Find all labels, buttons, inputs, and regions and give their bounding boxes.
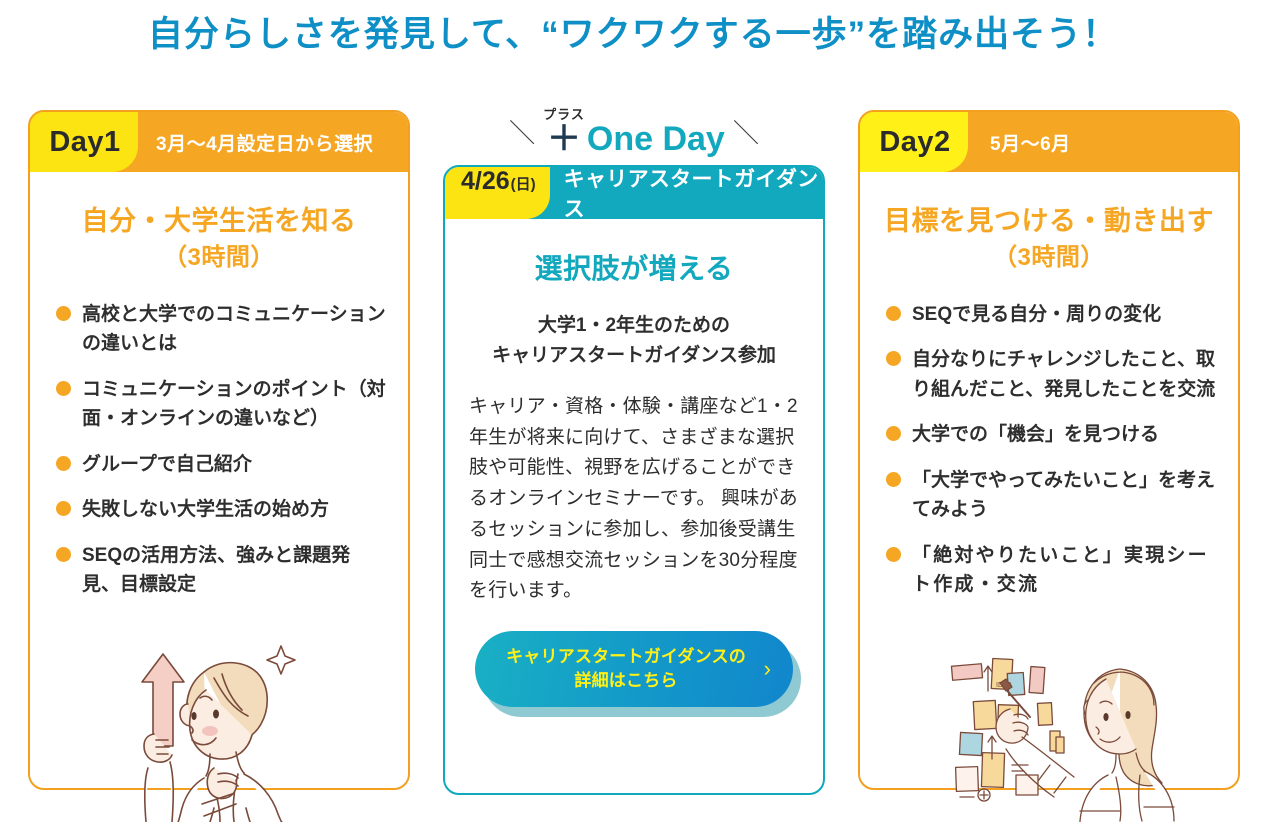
headline-part-2: して、 (436, 15, 541, 54)
bullet-dot-icon (56, 501, 71, 516)
plus-sign: ＋ (547, 122, 581, 156)
middle-card-header: 4/26(日) キャリアスタートガイダンス (445, 167, 823, 219)
list-item: 大学での「機会」を見つける (886, 420, 1218, 449)
list-item: グループで自己紹介 (56, 450, 388, 479)
lead-line-2: キャリアスタートガイダンス参加 (445, 341, 823, 371)
slash-right: ／ (733, 113, 759, 150)
day1-bullet-list: 高校と大学でのコミュニケーションの違いとは コミュニケーションのポイント（対面・… (56, 300, 388, 600)
day2-header: Day2 5月～6月 (860, 112, 1238, 172)
headline-part-3: “ワクワクする一歩” (541, 15, 866, 54)
program-schedule-page: 自分らしさを発見して、“ワクワクする一歩”を踏み出そう！ Day1 3月～4月設… (0, 0, 1266, 822)
middle-card-title: 選択肢が増える (445, 247, 823, 287)
list-item: 「絶対やりたいこと」実現シート作成・交流 (886, 541, 1218, 600)
day1-title: 自分・大学生活を知る （3時間） (30, 202, 408, 276)
day1-hours: （3時間） (30, 241, 408, 276)
cta-line-1: キャリアスタートガイダンスの (506, 647, 746, 666)
day1-header: Day1 3月～4月設定日から選択 (30, 112, 408, 172)
day1-period: 3月～4月設定日から選択 (156, 129, 373, 156)
bullet-dot-icon (56, 381, 71, 396)
middle-card-header-title: キャリアスタートガイダンス (564, 165, 823, 223)
one-day-label: One Day (587, 122, 725, 156)
list-item: 自分なりにチャレンジしたこと、取り組んだこと、発見したことを交流 (886, 345, 1218, 404)
list-item: 高校と大学でのコミュニケーションの違いとは (56, 300, 388, 359)
career-start-guidance-card: 4/26(日) キャリアスタートガイダンス 選択肢が増える 大学1・2年生のため… (443, 165, 825, 795)
bullet-dot-icon (56, 306, 71, 321)
day2-hours: （3時間） (860, 241, 1238, 276)
cta-line-2: 詳細はこちら (574, 671, 677, 690)
list-item: 「大学でやってみたいこと」を考えてみよう (886, 466, 1218, 525)
day1-badge: Day1 (30, 112, 138, 172)
headline-part-1: 自分らしさを発見 (148, 15, 436, 54)
event-date-badge: 4/26(日) (445, 167, 550, 219)
cta-container: キャリアスタートガイダンスの 詳細はこちら › (475, 631, 793, 713)
bullet-dot-icon (886, 472, 901, 487)
middle-card-body: キャリア・資格・体験・講座など1・2年生が将来に向けて、さまざまな選択肢や可能性… (469, 392, 801, 607)
lead-line-1: 大学1・2年生のための (445, 311, 823, 341)
list-item: SEQで見る自分・周りの変化 (886, 300, 1218, 329)
day2-period: 5月～6月 (990, 129, 1071, 156)
headline-part-4: を踏み出そう！ (866, 15, 1118, 54)
day2-badge: Day2 (860, 112, 968, 172)
list-item: コミュニケーションのポイント（対面・オンラインの違いなど） (56, 375, 388, 434)
middle-card-lead: 大学1・2年生のための キャリアスタートガイダンス参加 (445, 311, 823, 372)
bullet-dot-icon (886, 351, 901, 366)
event-day-of-week: (日) (511, 173, 536, 194)
bullet-dot-icon (886, 306, 901, 321)
slash-left: ＼ (509, 113, 535, 150)
day2-bullet-list: SEQで見る自分・周りの変化 自分なりにチャレンジしたこと、取り組んだこと、発見… (886, 300, 1218, 600)
bullet-dot-icon (56, 547, 71, 562)
day2-card: Day2 5月～6月 目標を見つける・動き出す （3時間） SEQで見る自分・周… (858, 110, 1240, 790)
plus-one-day-label: ＼ プラス ＋ One Day ／ (443, 108, 825, 156)
list-item: 失敗しない大学生活の始め方 (56, 495, 388, 524)
guidance-details-button[interactable]: キャリアスタートガイダンスの 詳細はこちら › (475, 631, 793, 707)
bullet-dot-icon (56, 456, 71, 471)
bullet-dot-icon (886, 547, 901, 562)
chevron-right-icon: › (764, 656, 771, 682)
page-headline: 自分らしさを発見して、“ワクワクする一歩”を踏み出そう！ (0, 6, 1266, 57)
bullet-dot-icon (886, 426, 901, 441)
day2-title: 目標を見つける・動き出す （3時間） (860, 202, 1238, 276)
day1-card: Day1 3月～4月設定日から選択 自分・大学生活を知る （3時間） 高校と大学… (28, 110, 410, 790)
list-item: SEQの活用方法、強みと課題発見、目標設定 (56, 541, 388, 600)
